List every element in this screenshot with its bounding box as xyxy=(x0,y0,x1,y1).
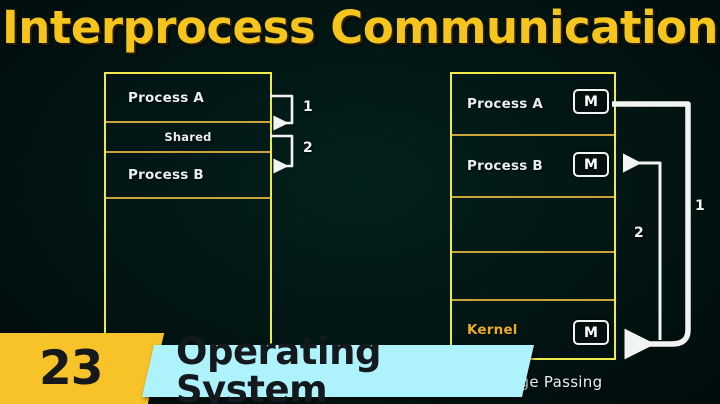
left-row-label-process-a: Process A xyxy=(128,90,204,106)
right-arrow-2-path xyxy=(626,163,660,340)
series-title-banner: Operating System xyxy=(142,345,534,397)
right-chip-m-process-a-label: M xyxy=(584,94,598,110)
right-arrow-label-2: 2 xyxy=(634,225,644,241)
right-arrow-1-path xyxy=(612,104,688,344)
right-row-empty-2 xyxy=(452,253,614,301)
video-frame: Interprocess Communication Process A Sha… xyxy=(0,0,720,404)
left-row-empty xyxy=(106,199,270,351)
left-row-process-a: Process A xyxy=(106,74,270,123)
series-title-text: Operating System xyxy=(176,333,528,404)
left-row-label-process-b: Process B xyxy=(128,167,204,183)
right-memory-box: Process A Process B Kernel xyxy=(450,72,616,360)
right-chip-m-kernel: M xyxy=(573,320,609,345)
right-row-empty-1 xyxy=(452,198,614,253)
episode-number-text: 23 xyxy=(39,345,102,392)
left-row-label-shared: Shared xyxy=(106,130,270,144)
right-chip-m-kernel-label: M xyxy=(584,325,598,341)
left-arrow-1-path xyxy=(270,96,292,123)
right-chip-m-process-b: M xyxy=(573,152,609,177)
left-arrow-2-path xyxy=(270,136,292,166)
page-title: Interprocess Communication xyxy=(0,2,720,54)
left-row-shared: Shared xyxy=(106,123,270,153)
right-arrow-label-1: 1 xyxy=(695,198,705,214)
right-chip-m-process-a: M xyxy=(573,89,609,114)
left-arrow-label-1: 1 xyxy=(303,99,313,115)
episode-number-badge: 23 xyxy=(0,333,164,404)
right-chip-m-process-b-label: M xyxy=(584,157,598,173)
left-memory-box: Process A Shared Process B Kernel xyxy=(104,72,272,360)
right-row-label-process-b: Process B xyxy=(467,158,543,174)
right-row-label-process-a: Process A xyxy=(467,96,543,112)
left-arrow-label-2: 2 xyxy=(303,140,313,156)
left-row-process-b: Process B xyxy=(106,153,270,199)
